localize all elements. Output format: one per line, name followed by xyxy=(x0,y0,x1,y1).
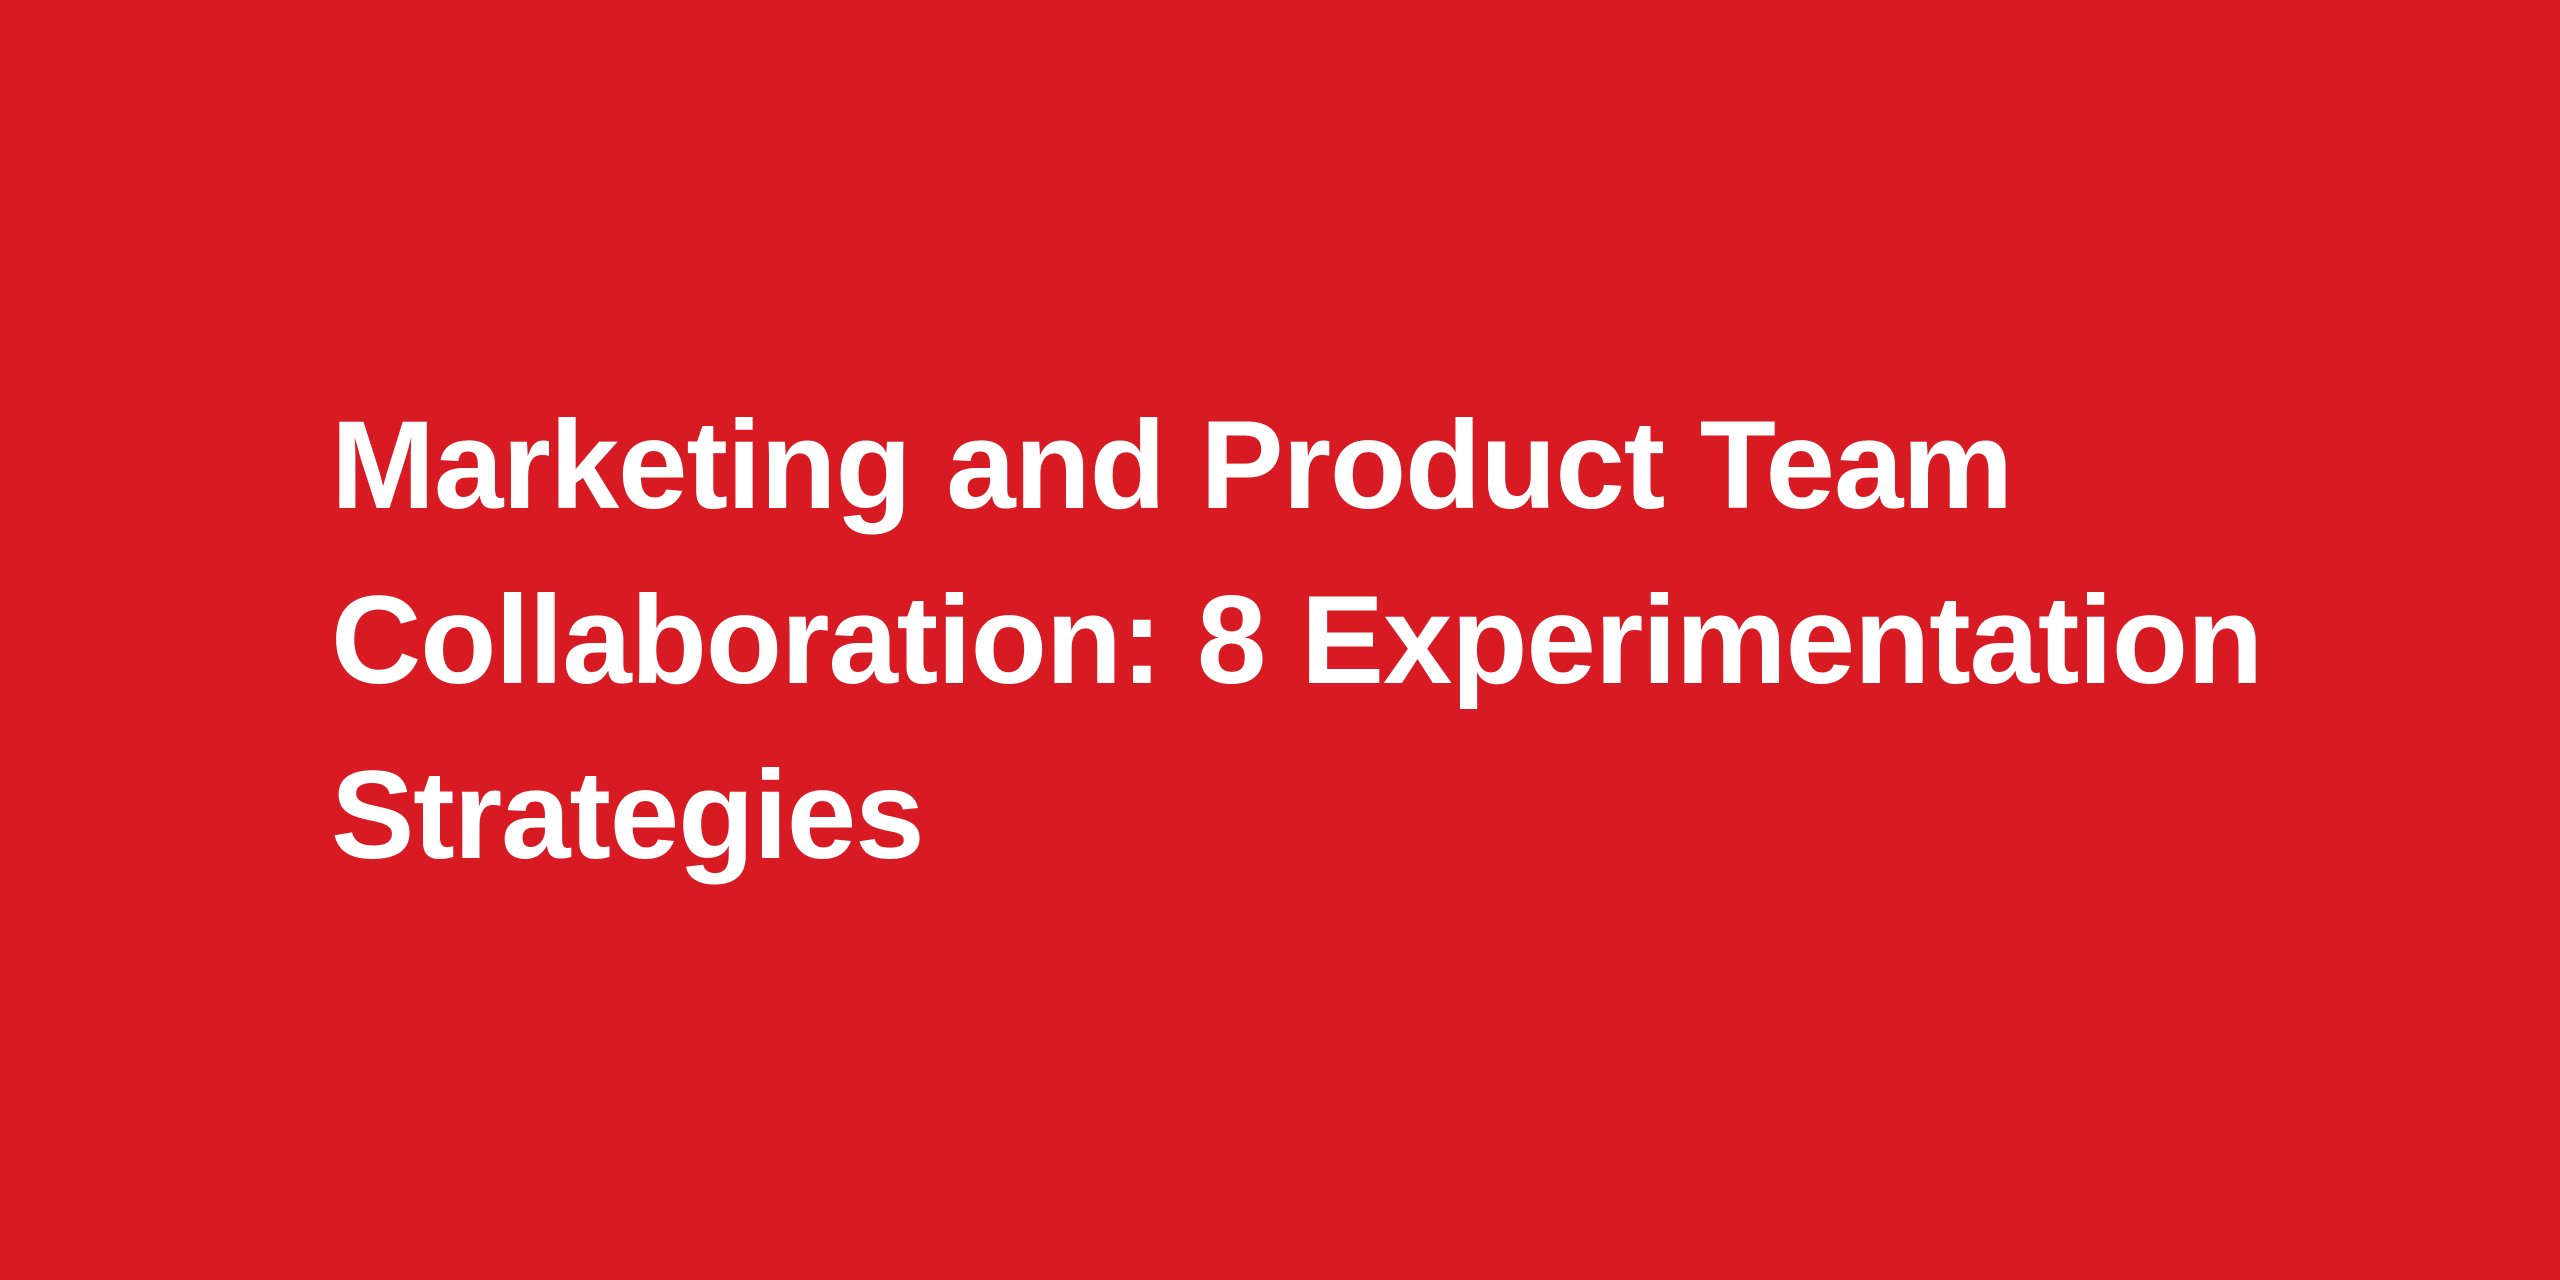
page-title: Marketing and Product Team Collaboration… xyxy=(331,378,2351,903)
title-block: Marketing and Product Team Collaboration… xyxy=(0,378,2560,903)
poster-canvas: Marketing and Product Team Collaboration… xyxy=(0,0,2560,1280)
